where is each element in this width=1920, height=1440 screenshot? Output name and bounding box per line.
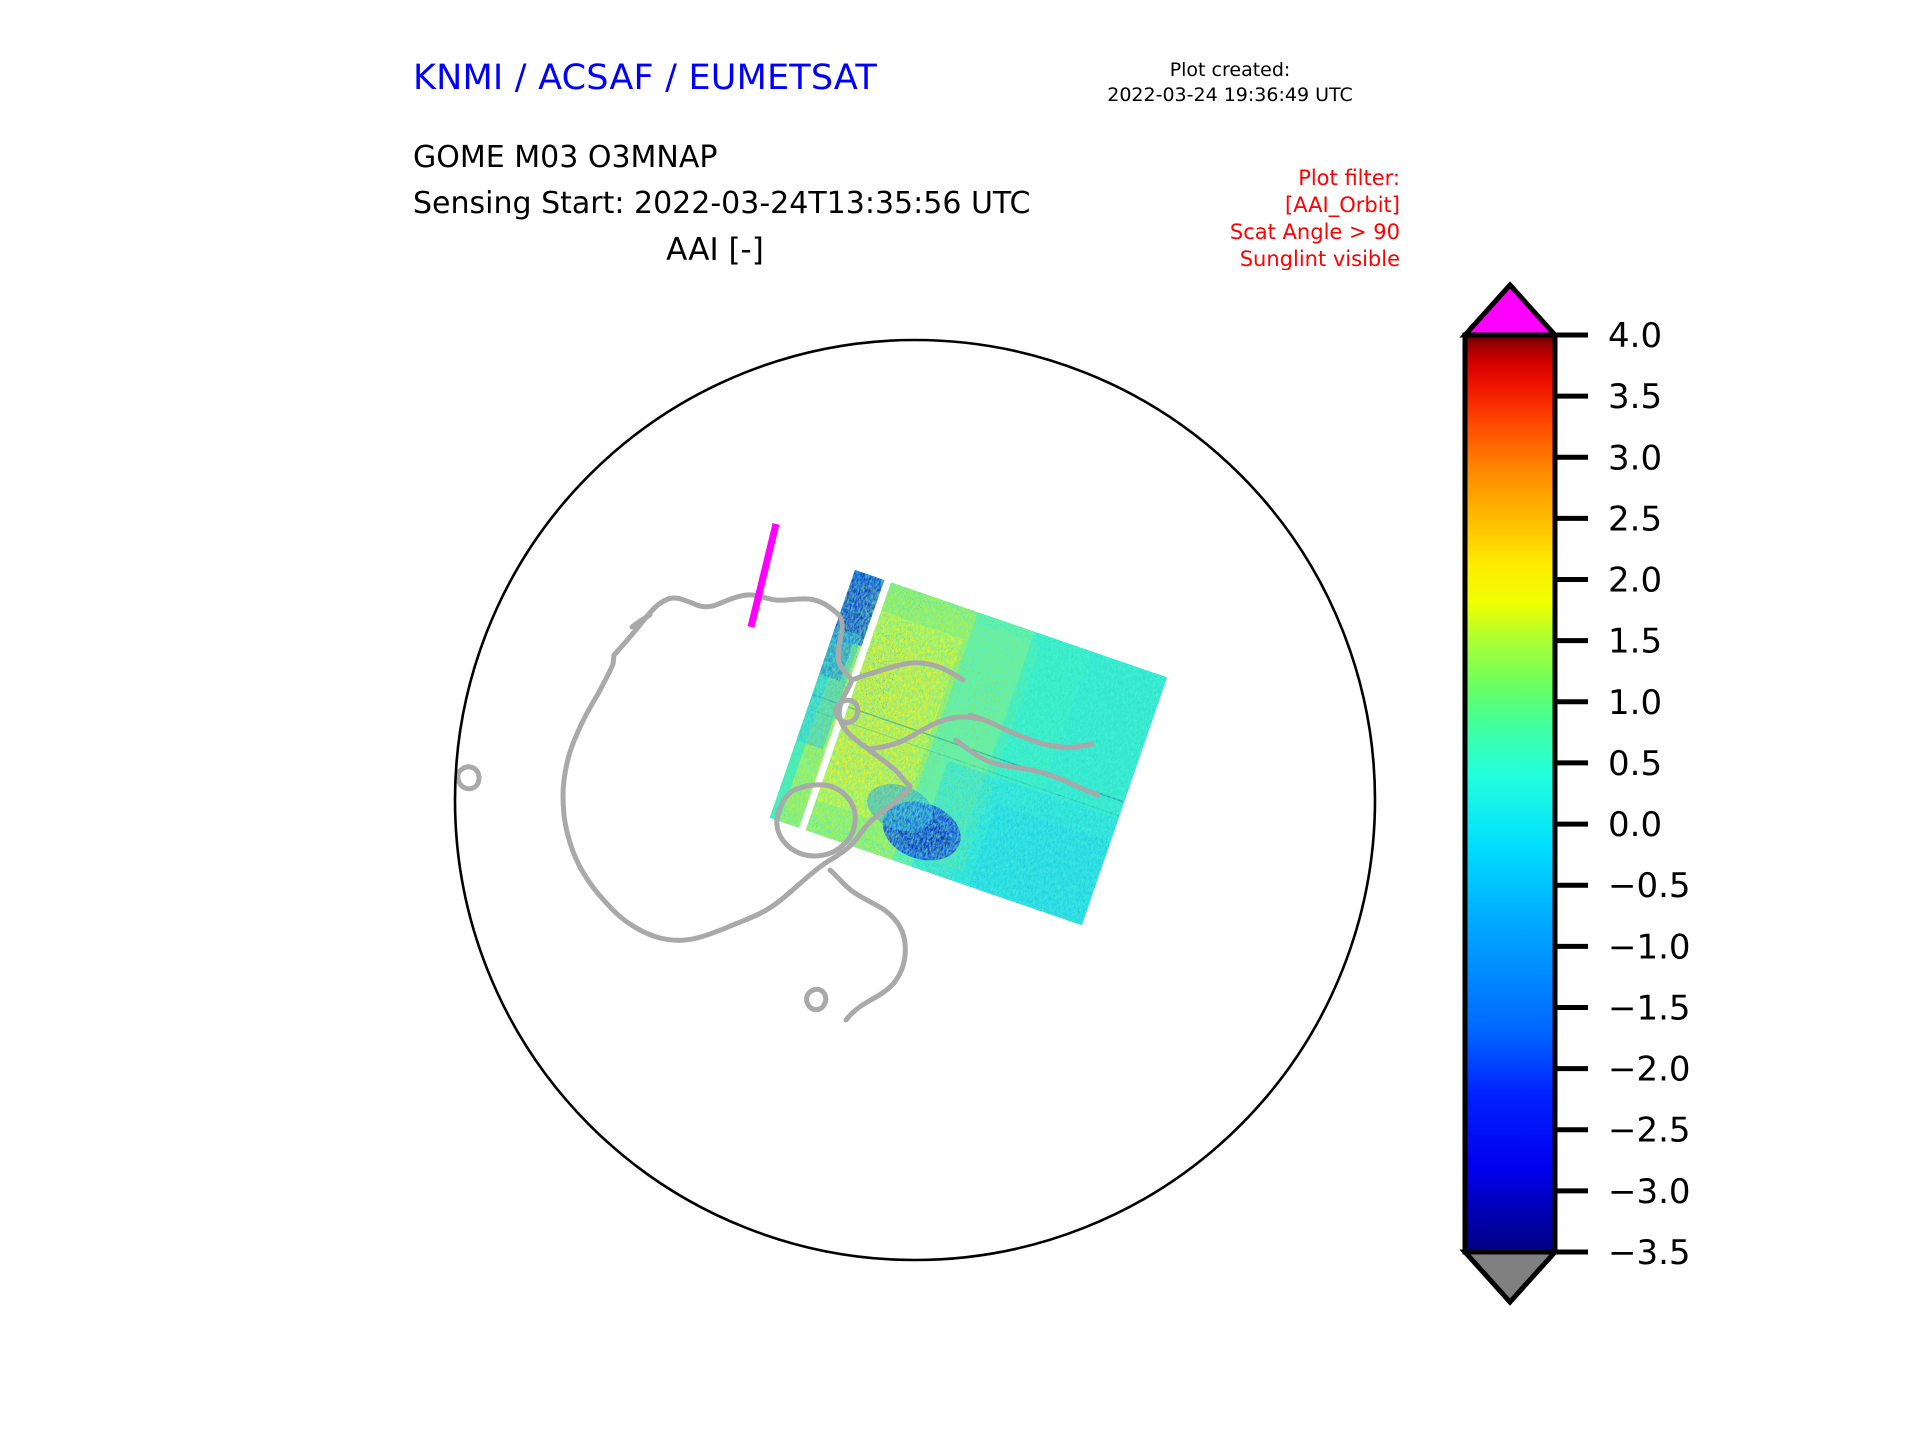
colorbar-over-arrow — [1465, 285, 1555, 335]
plot-filter-block: Plot filter: [AAI_Orbit] Scat Angle > 90… — [1060, 165, 1400, 273]
colorbar-tick-label: −0.5 — [1608, 866, 1691, 906]
colorbar-tick-label: 1.5 — [1608, 622, 1662, 662]
plot-created-value: 2022-03-24 19:36:49 UTC — [1060, 83, 1400, 108]
plot-canvas: KNMI / ACSAF / EUMETSAT GOME M03 O3MNAP … — [0, 0, 1920, 1440]
colorbar-tick-label: 0.5 — [1608, 744, 1662, 784]
organisation-title: KNMI / ACSAF / EUMETSAT — [413, 58, 877, 98]
colorbar-tick-label: 2.5 — [1608, 499, 1662, 539]
colorbar-tick-label: 3.5 — [1608, 377, 1662, 417]
plot-filter-name: [AAI_Orbit] — [1060, 192, 1400, 219]
colorbar-svg: 4.03.53.02.52.01.51.00.50.0−0.5−1.0−1.5−… — [1440, 280, 1860, 1320]
polar-map-svg — [400, 270, 1430, 1330]
product-title: GOME M03 O3MNAP — [413, 140, 717, 175]
colorbar-tick-label: −1.0 — [1608, 927, 1691, 967]
colorbar-ticks: 4.03.53.02.52.01.51.00.50.0−0.5−1.0−1.5−… — [1555, 316, 1691, 1273]
colorbar-under-arrow — [1465, 1252, 1555, 1302]
colorbar-tick-label: −3.0 — [1608, 1172, 1691, 1212]
colorbar-tick-label: 4.0 — [1608, 316, 1662, 356]
sensing-start-label: Sensing Start: 2022-03-24T13:35:56 UTC — [413, 186, 1030, 221]
colorbar-tick-label: 2.0 — [1608, 561, 1662, 601]
colorbar-tick-label: −3.5 — [1608, 1233, 1691, 1273]
colorbar-tick-label: −2.0 — [1608, 1050, 1691, 1090]
colorbar-tick-label: −1.5 — [1608, 988, 1691, 1028]
colorbar-tick-label: 0.0 — [1608, 805, 1662, 845]
colorbar-tick-label: −2.5 — [1608, 1111, 1691, 1151]
plot-filter-label: Plot filter: — [1060, 165, 1400, 192]
colorbar-panel: 4.03.53.02.52.01.51.00.50.0−0.5−1.0−1.5−… — [1440, 280, 1860, 1320]
colorbar-gradient — [1465, 335, 1555, 1252]
polar-map-panel — [400, 270, 1430, 1330]
plot-filter-condition: Scat Angle > 90 — [1060, 219, 1400, 246]
plot-created-label: Plot created: — [1060, 58, 1400, 83]
plot-created-block: Plot created: 2022-03-24 19:36:49 UTC — [1060, 58, 1400, 108]
colorbar-tick-label: 1.0 — [1608, 683, 1662, 723]
plot-filter-note: Sunglint visible — [1060, 246, 1400, 273]
colorbar-tick-label: 3.0 — [1608, 438, 1662, 478]
